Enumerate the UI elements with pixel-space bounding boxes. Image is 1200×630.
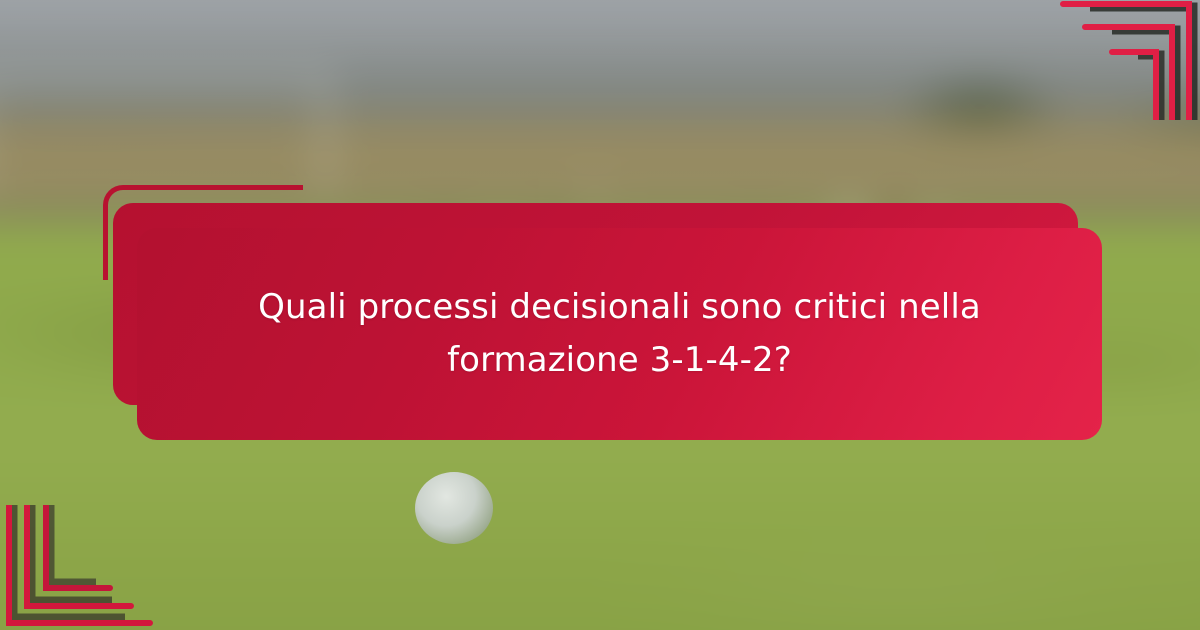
share-card-canvas: Quali processi decisionali sono critici …: [0, 0, 1200, 630]
question-title: Quali processi decisionali sono critici …: [207, 281, 1032, 386]
question-card[interactable]: Quali processi decisionali sono critici …: [137, 228, 1102, 440]
